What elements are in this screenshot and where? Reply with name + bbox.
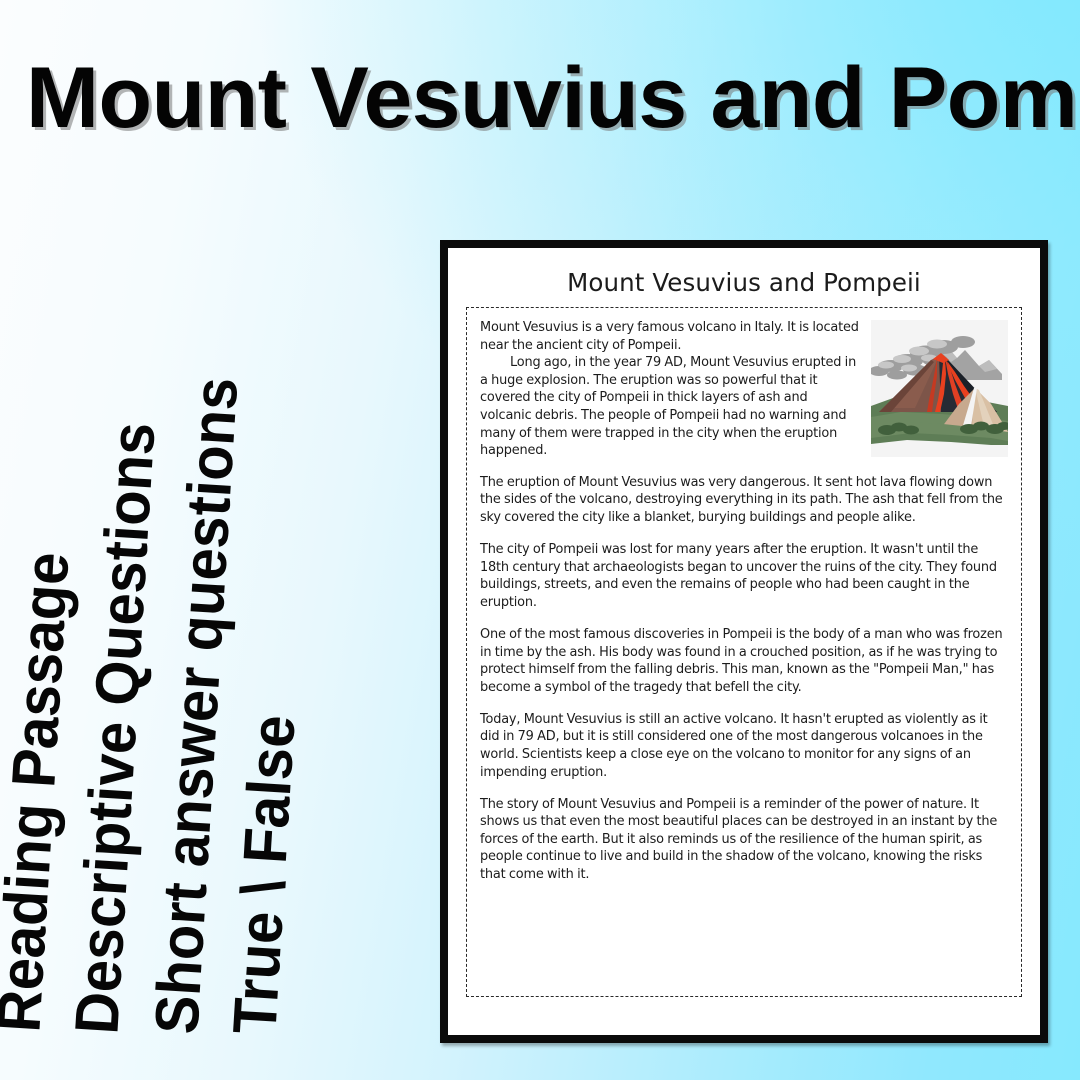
passage-text: Mount Vesuvius is a very famous volcano … bbox=[480, 320, 859, 353]
feature-label-true-false: True \ False bbox=[219, 713, 309, 1036]
passage-paragraph-5: Today, Mount Vesuvius is still an active… bbox=[480, 711, 1008, 781]
poster-canvas: Mount Vesuvius and Pompeii Reading Passa… bbox=[0, 0, 1080, 1080]
passage-paragraph-2: The eruption of Mount Vesuvius was very … bbox=[480, 474, 1008, 527]
passage-paragraph-6: The story of Mount Vesuvius and Pompeii … bbox=[480, 796, 1008, 884]
passage-paragraph-3: The city of Pompeii was lost for many ye… bbox=[480, 541, 1008, 611]
passage-text: Long ago, in the year 79 AD, Mount Vesuv… bbox=[480, 355, 856, 458]
worksheet-preview-card: Mount Vesuvius and Pompeii bbox=[440, 240, 1048, 1043]
page-title: Mount Vesuvius and Pompeii bbox=[26, 48, 1080, 148]
worksheet-heading: Mount Vesuvius and Pompeii bbox=[466, 268, 1022, 297]
erupting-volcano-illustration bbox=[871, 320, 1008, 457]
passage-paragraph-4: One of the most famous discoveries in Po… bbox=[480, 626, 1008, 696]
worksheet-page: Mount Vesuvius and Pompeii bbox=[448, 248, 1040, 1035]
reading-passage-box: Mount Vesuvius is a very famous volcano … bbox=[466, 307, 1022, 997]
